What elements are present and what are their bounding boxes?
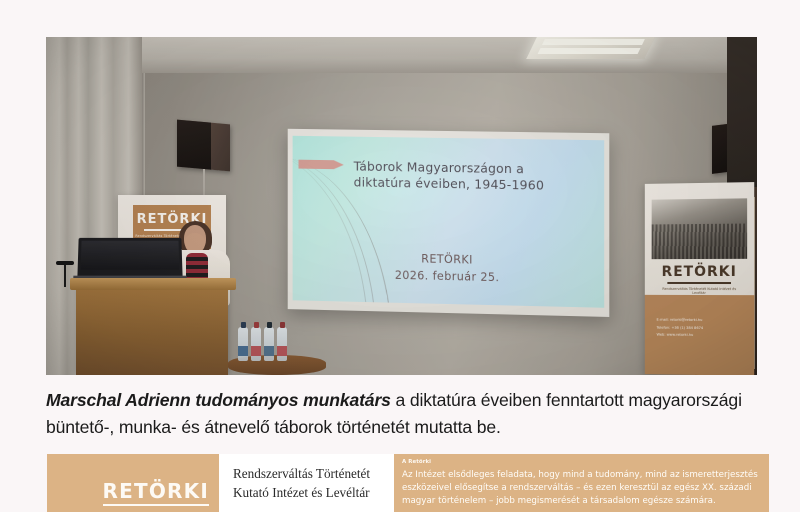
water-bottle [277,327,287,361]
footer-about-block: A Retörki Az Intézet elsődleges feladata… [394,454,769,512]
banner-right-contact: E-mail: retorki@retorki.hu Telefon: +36 … [657,317,704,340]
projection-screen: Táborok Magyarországon a diktatúra éveib… [293,136,605,308]
banner-right-logo-box: RETÖRKI Rendszerváltás Történetét Kutató… [657,265,743,295]
slide-subtitle: RETÖRKI 2026. február 25. [293,248,605,290]
dark-cabinet [727,37,757,197]
water-bottle [251,327,261,361]
water-bottle [264,327,274,361]
slide-title: Táborok Magyarországon a diktatúra éveib… [354,159,590,196]
wall-speaker-left [177,120,230,172]
speaker-cone-left [177,120,211,170]
footer-about-title: A Retörki [402,459,759,465]
ceiling-light-fixture [526,37,656,59]
microphone-stand [64,265,66,287]
projection-screen-frame: Táborok Magyarországon a diktatúra éveib… [288,129,610,317]
footer-logo-block[interactable]: RETÖRKI [47,454,219,512]
footer-logo-underline [103,504,209,507]
slide-title-line-2: diktatúra éveiben, 1945-1960 [354,175,590,195]
room-ceiling [142,37,757,73]
caption-lead: Marschal Adrienn tudományos munkatárs [46,390,391,410]
footer-logo-inner: RETÖRKI [103,481,209,507]
microphone-head [56,261,74,265]
rollup-banner-right: RETÖRKI Rendszerváltás Történetét Kutató… [645,182,754,375]
banner-right-logo-text: RETÖRKI [657,265,743,279]
footer-about-body: Az Intézet elsődleges feladata, hogy min… [402,469,759,509]
light-tube-b [538,48,640,53]
laptop-screen [81,241,180,270]
conference-photo: Táborok Magyarországon a diktatúra éveib… [46,37,757,375]
footer-logo-text: RETÖRKI [103,481,209,501]
banner-right-archive-photo [652,198,747,259]
banner-right-web: Web: www.retorki.hu [657,332,704,340]
banner-right-logo-underline [667,282,731,284]
lectern-top [70,278,236,290]
banner-right-email: E-mail: retorki@retorki.hu [657,317,704,325]
photo-caption: Marschal Adrienn tudományos munkatárs a … [46,387,757,440]
site-footer: RETÖRKI Rendszerváltás Történetét Kutató… [47,454,769,512]
footer-institute-name: Rendszerváltás Történetét Kutató Intézet… [219,454,394,512]
banner-right-logo-subtitle: Rendszerváltás Történetét Kutató Intézet… [657,287,743,295]
light-tube-a [543,39,645,44]
lectern [76,285,228,375]
article-container: Táborok Magyarországon a diktatúra éveib… [46,37,757,458]
water-bottle [238,327,248,361]
laptop [77,238,182,279]
